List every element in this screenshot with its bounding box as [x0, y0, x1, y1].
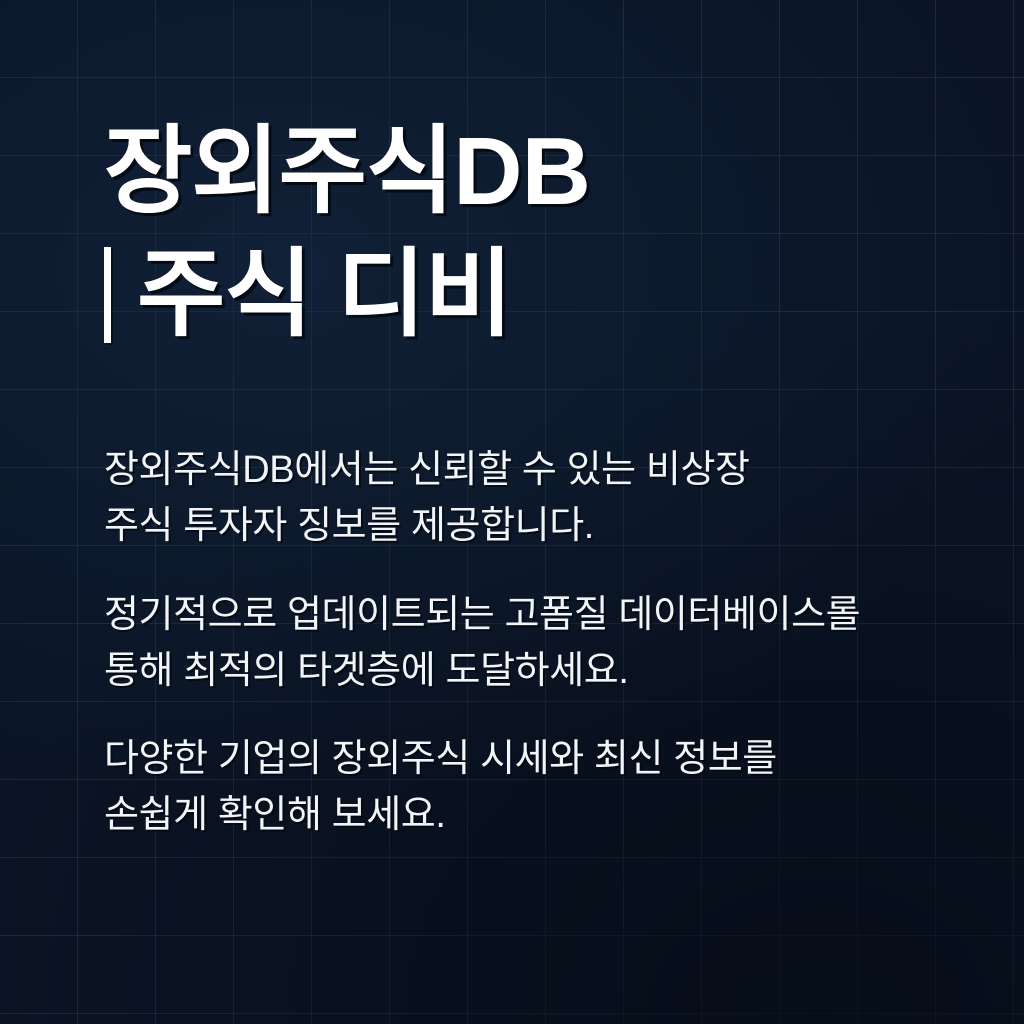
body-copy-block: 장외주식DB에서는 신뢰할 수 있는 비상장 주식 투자자 징보를 제공합니다.… [104, 443, 984, 844]
promo-poster: 장외주식DB 주식 디비 장외주식DB에서는 신뢰할 수 있는 비상장 주식 투… [0, 0, 1024, 1024]
paragraph-2: 정기적으로 업데이트되는 고폼질 데이터베이스롤 통해 최적의 타겟층에 도달하… [104, 588, 984, 700]
vertical-bar-divider [104, 247, 111, 343]
paragraph-2-line-2: 통해 최적의 타겟층에 도달하세요. [104, 644, 984, 700]
headline-block: 장외주식DB 주식 디비 [104, 122, 984, 346]
paragraph-1: 장외주식DB에서는 신뢰할 수 있는 비상장 주식 투자자 징보를 제공합니다. [104, 443, 984, 555]
paragraph-1-line-1: 장외주식DB에서는 신뢰할 수 있는 비상장 [104, 443, 984, 499]
paragraph-3-line-2: 손쉽게 확인해 보세요. [104, 788, 984, 844]
page-subtitle: 주식 디비 [137, 245, 512, 346]
paragraph-2-line-1: 정기적으로 업데이트되는 고폼질 데이터베이스롤 [104, 588, 984, 644]
subtitle-row: 주식 디비 [104, 245, 984, 346]
paragraph-3: 다양한 기업의 장외주식 시세와 최신 정보를 손쉽게 확인해 보세요. [104, 732, 984, 844]
paragraph-3-line-1: 다양한 기업의 장외주식 시세와 최신 정보를 [104, 732, 984, 788]
poster-content: 장외주식DB 주식 디비 장외주식DB에서는 신뢰할 수 있는 비상장 주식 투… [0, 0, 1024, 1024]
page-title: 장외주식DB [104, 122, 984, 223]
paragraph-1-line-2: 주식 투자자 징보를 제공합니다. [104, 499, 984, 555]
